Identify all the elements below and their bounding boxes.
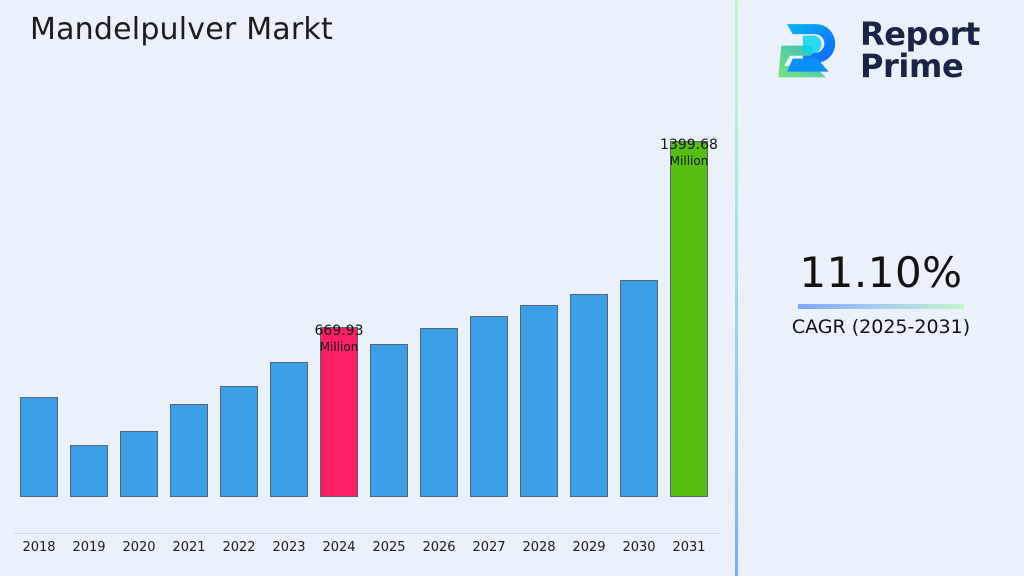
bar-2023 bbox=[270, 362, 308, 497]
logo-line-2: Prime bbox=[860, 50, 980, 82]
bar-2019 bbox=[70, 445, 108, 497]
report-prime-logo-icon bbox=[774, 14, 846, 86]
bar-2021 bbox=[170, 404, 208, 497]
bar-2029 bbox=[570, 294, 608, 497]
cagr-block: 11.10% CAGR (2025-2031) bbox=[738, 248, 1024, 339]
report-prime-logo: Report Prime bbox=[774, 14, 980, 86]
bar-2026 bbox=[420, 328, 458, 497]
bar-2027 bbox=[470, 316, 508, 497]
chart-page: Mandelpulver Markt 201820192020202120222… bbox=[0, 0, 1024, 576]
x-axis-line bbox=[14, 533, 720, 534]
chart-panel: Mandelpulver Markt 201820192020202120222… bbox=[0, 0, 736, 576]
cagr-label: CAGR (2025-2031) bbox=[738, 315, 1024, 339]
bar-2018 bbox=[20, 397, 58, 497]
brand-panel: Report Prime 11.10% CAGR (2025-2031) bbox=[738, 0, 1024, 576]
bar-2025 bbox=[370, 344, 408, 497]
bar-value-label-2031: 1399.68Million bbox=[634, 137, 744, 169]
bar-value-number-2031: 1399.68 bbox=[660, 137, 718, 153]
bar-value-number-2024: 669.93 bbox=[315, 323, 364, 339]
bar-2028 bbox=[520, 305, 558, 497]
cagr-divider-rule bbox=[798, 304, 964, 309]
bar-chart-plot: 2018201920202021202220232024669.93Millio… bbox=[0, 0, 736, 540]
logo-wordmark: Report Prime bbox=[860, 18, 980, 82]
bar-2030 bbox=[620, 280, 658, 497]
bar-2022 bbox=[220, 386, 258, 497]
bar-value-unit-2031: Million bbox=[634, 154, 744, 169]
x-tick-2031: 2031 bbox=[659, 540, 719, 555]
bar-2020 bbox=[120, 431, 158, 497]
bar-2031 bbox=[670, 141, 708, 497]
cagr-value: 11.10% bbox=[738, 248, 1024, 298]
